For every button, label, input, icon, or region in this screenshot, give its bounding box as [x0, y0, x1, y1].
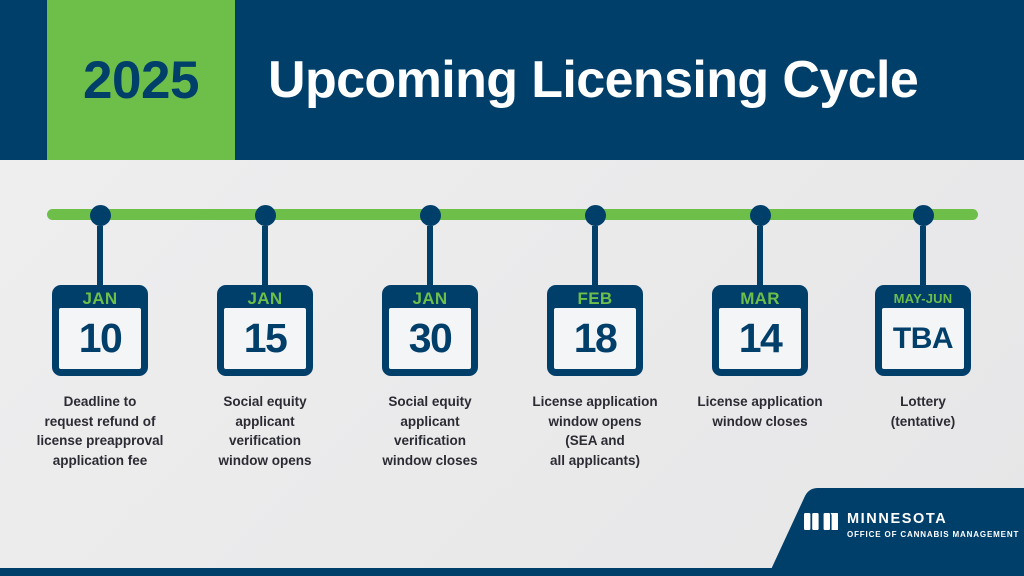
calendar-card[interactable]: JAN 15: [217, 285, 313, 376]
calendar-day: 14: [719, 308, 801, 369]
timeline-dot-icon: [255, 205, 276, 226]
milestone-caption: Social equity applicant verification win…: [179, 392, 351, 470]
timeline-stem: [427, 226, 433, 285]
calendar-card[interactable]: JAN 10: [52, 285, 148, 376]
calendar-card[interactable]: FEB 18: [547, 285, 643, 376]
timeline-stem: [920, 226, 926, 285]
calendar-month: FEB: [578, 289, 613, 308]
timeline-stem: [757, 226, 763, 285]
milestone-caption: Deadline to request refund of license pr…: [14, 392, 186, 470]
calendar-day: 18: [554, 308, 636, 369]
calendar-month: JAN: [248, 289, 283, 308]
calendar-month: JAN: [83, 289, 118, 308]
logo-lockup: MINNESOTA OFFICE OF CANNABIS MANAGEMENT: [804, 512, 1019, 541]
calendar-card[interactable]: MAR 14: [712, 285, 808, 376]
logo-state-name: MINNESOTA: [847, 512, 1019, 527]
calendar-day: 10: [59, 308, 141, 369]
milestone-caption: License application window opens (SEA an…: [509, 392, 681, 470]
footer-logo-panel: MINNESOTA OFFICE OF CANNABIS MANAGEMENT: [760, 486, 1024, 576]
calendar-card[interactable]: JAN 30: [382, 285, 478, 376]
milestone-1[interactable]: JAN 10 Deadline to request refund of lic…: [10, 205, 190, 470]
timeline-dot-icon: [913, 205, 934, 226]
milestone-6[interactable]: MAY-JUN TBA Lottery (tentative): [833, 205, 1013, 431]
calendar-day: TBA: [882, 308, 964, 369]
timeline-dot-icon: [585, 205, 606, 226]
timeline-stem: [262, 226, 268, 285]
milestone-4[interactable]: FEB 18 License application window opens …: [505, 205, 685, 470]
infographic-page: 2025 Upcoming Licensing Cycle JAN 10 Dea…: [0, 0, 1024, 576]
milestone-caption: Social equity applicant verification win…: [344, 392, 516, 470]
milestone-caption: License application window closes: [674, 392, 846, 431]
timeline-dot-icon: [750, 205, 771, 226]
logo-text-block: MINNESOTA OFFICE OF CANNABIS MANAGEMENT: [847, 512, 1019, 541]
calendar-day: 30: [389, 308, 471, 369]
header-banner: 2025 Upcoming Licensing Cycle: [0, 0, 1024, 160]
calendar-card[interactable]: MAY-JUN TBA: [875, 285, 971, 376]
calendar-month: JAN: [413, 289, 448, 308]
year-block: 2025: [47, 0, 235, 160]
milestone-3[interactable]: JAN 30 Social equity applicant verificat…: [340, 205, 520, 470]
milestone-caption: Lottery (tentative): [837, 392, 1009, 431]
milestone-5[interactable]: MAR 14 License application window closes: [670, 205, 850, 431]
milestone-2[interactable]: JAN 15 Social equity applicant verificat…: [175, 205, 355, 470]
calendar-month: MAY-JUN: [894, 289, 953, 308]
year-label: 2025: [83, 54, 199, 107]
page-title: Upcoming Licensing Cycle: [268, 0, 918, 160]
bottom-accent-strip: [0, 568, 1024, 576]
mn-logo-icon: [804, 513, 838, 530]
calendar-month: MAR: [740, 289, 780, 308]
timeline-dot-icon: [90, 205, 111, 226]
timeline-stem: [592, 226, 598, 285]
timeline-dot-icon: [420, 205, 441, 226]
calendar-day: 15: [224, 308, 306, 369]
timeline-stem: [97, 226, 103, 285]
logo-office-name: OFFICE OF CANNABIS MANAGEMENT: [847, 529, 1019, 541]
